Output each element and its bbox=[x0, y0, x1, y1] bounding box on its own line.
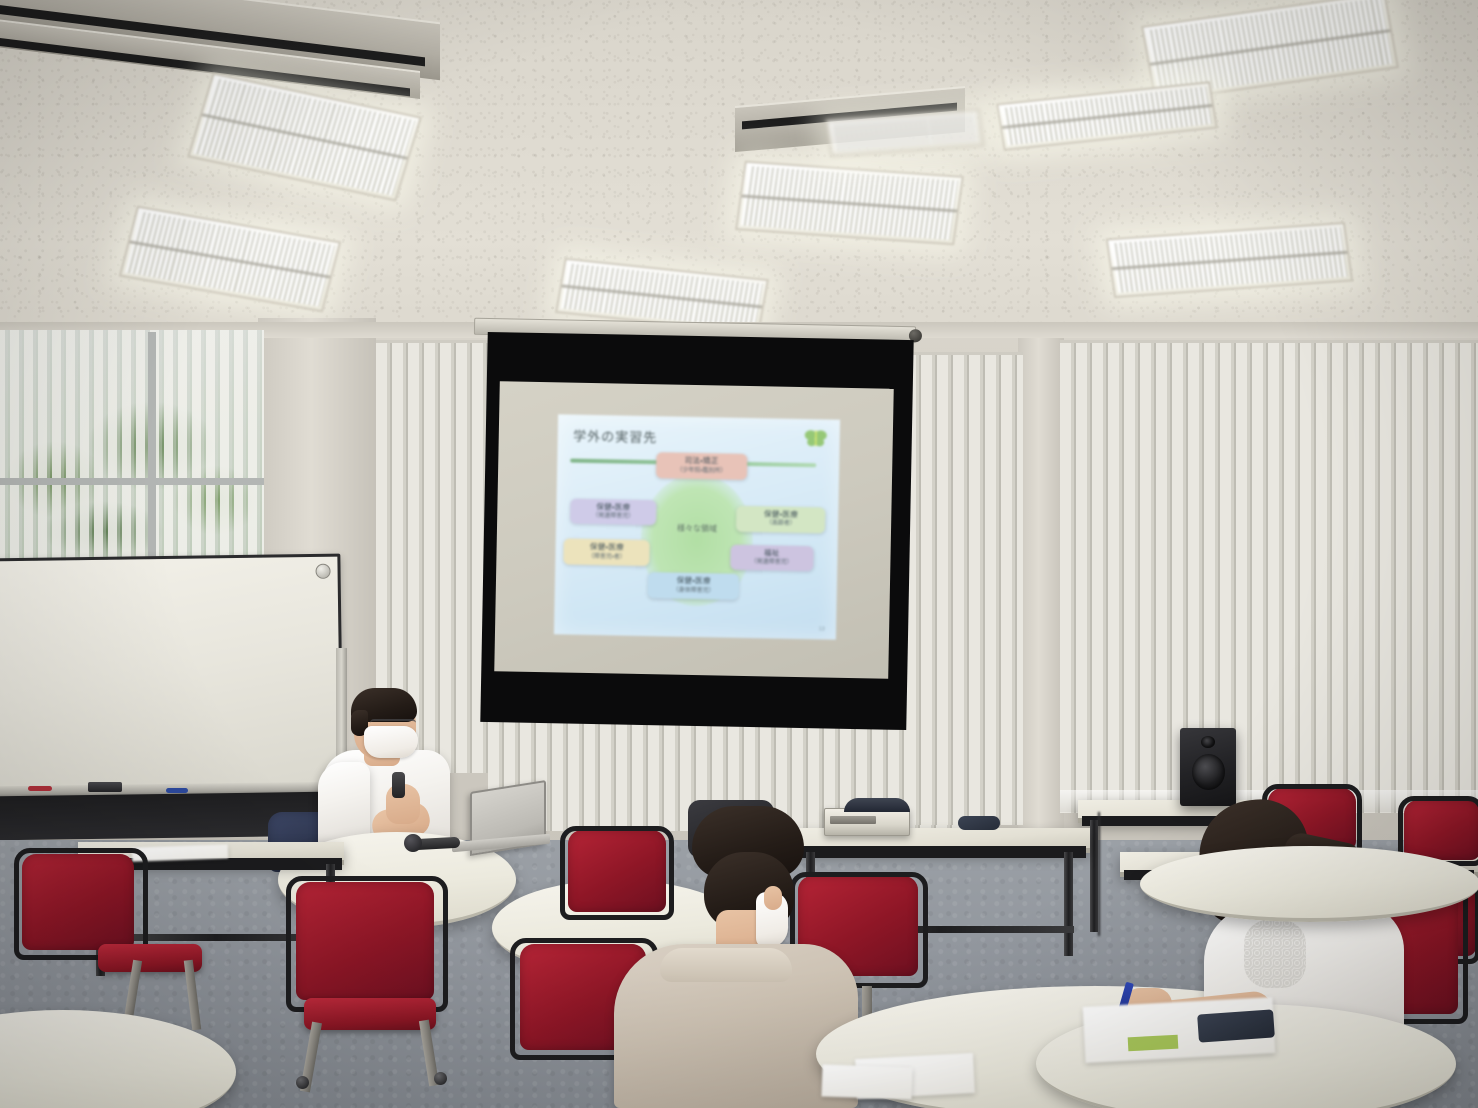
student-center-ear bbox=[764, 886, 782, 910]
slide-box-right-lower-title: 福祉 bbox=[732, 547, 811, 558]
handout-student-center-2 bbox=[821, 1064, 912, 1099]
student-center-collar bbox=[660, 948, 792, 982]
slide-box-right-upper: 保健・医療 （高齢者） bbox=[736, 506, 825, 534]
slide-box-right-lower: 福祉 （発達障害児） bbox=[730, 544, 813, 571]
handout-green-strip bbox=[1128, 1035, 1179, 1052]
slide-box-left-lower: 保健・医療 （障害児・者） bbox=[564, 539, 650, 567]
speaker-tweeter bbox=[1201, 736, 1215, 748]
presenter-face-mask bbox=[364, 726, 418, 758]
vertical-blinds-right-1[interactable] bbox=[905, 352, 1023, 825]
chair-frame bbox=[286, 876, 448, 1012]
window-left bbox=[0, 330, 264, 588]
slide-box-bottom: 保健・医療 （身体障害児） bbox=[648, 572, 740, 600]
whiteboard[interactable] bbox=[0, 554, 344, 797]
pa-speaker bbox=[1180, 728, 1236, 806]
projected-slide: 学外の実習先 様々な領域 司法・矯正 （少年院・鑑別所） 保健・医療 （発達障害… bbox=[554, 414, 840, 639]
speaker-cable bbox=[1098, 812, 1100, 936]
whiteboard-knob[interactable] bbox=[315, 564, 330, 579]
student-right-blouse-eyelet bbox=[1244, 920, 1306, 988]
window-frame-mullion bbox=[148, 332, 156, 586]
desk-phone-handset bbox=[958, 816, 1000, 830]
chair-seat bbox=[304, 998, 436, 1030]
slide-box-left-upper-sub: （発達障害児） bbox=[572, 513, 654, 522]
slide-box-top: 司法・矯正 （少年院・鑑別所） bbox=[656, 452, 748, 480]
slide-box-left-lower-title: 保健・医療 bbox=[566, 542, 648, 553]
slide-box-left-upper: 保健・医療 （発達障害児） bbox=[570, 498, 656, 526]
slide-box-top-title: 司法・矯正 bbox=[658, 456, 746, 467]
table-rear-right-1-leg-l bbox=[1090, 820, 1098, 932]
table-microphone-head bbox=[404, 834, 422, 852]
pencil-pouch[interactable] bbox=[1197, 1009, 1275, 1042]
window-frame-rail bbox=[0, 478, 264, 485]
slide-box-left-upper-title: 保健・医療 bbox=[572, 501, 654, 512]
chair-left-2-caster-r bbox=[434, 1072, 447, 1085]
chair-left-2-caster-l bbox=[296, 1076, 309, 1089]
vertical-blinds-right-2[interactable] bbox=[1060, 340, 1478, 813]
slide-title: 学外の実習先 bbox=[573, 426, 657, 447]
wall-column-right bbox=[1018, 330, 1064, 830]
butterfly-logo bbox=[802, 427, 828, 449]
whiteboard-eraser[interactable] bbox=[88, 782, 122, 792]
slide-box-right-upper-title: 保健・医療 bbox=[739, 509, 824, 520]
table-av-center-leg-r bbox=[1064, 852, 1073, 956]
classroom-photo: 学外の実習先 様々な領域 司法・矯正 （少年院・鑑別所） 保健・医療 （発達障害… bbox=[0, 0, 1478, 1108]
slide-box-top-sub: （少年院・鑑別所） bbox=[658, 467, 746, 476]
slide-page-number: 13 bbox=[819, 627, 825, 633]
slide-box-right-upper-sub: （高齢者） bbox=[738, 520, 823, 529]
whiteboard-marker-blue[interactable] bbox=[166, 788, 188, 793]
speaker-woofer bbox=[1192, 754, 1225, 790]
table-right-rear-round bbox=[1140, 846, 1478, 922]
vertical-blinds-left[interactable] bbox=[0, 330, 264, 588]
slide-box-bottom-sub: （身体障害児） bbox=[650, 587, 738, 596]
whiteboard-marker-red[interactable] bbox=[28, 786, 52, 791]
slide-box-bottom-title: 保健・医療 bbox=[650, 575, 738, 586]
slide-box-left-lower-sub: （障害児・者） bbox=[566, 553, 648, 562]
presenter-microphone[interactable] bbox=[392, 772, 405, 798]
slide-box-right-lower-sub: （発達障害児） bbox=[732, 559, 811, 568]
